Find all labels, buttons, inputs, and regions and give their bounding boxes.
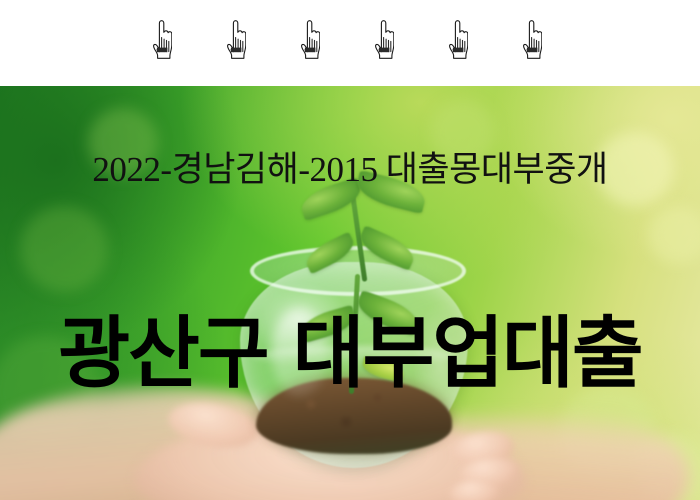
top-icon-bar (0, 0, 700, 86)
pointing-hand-icon-row (152, 20, 552, 64)
pointing-up-hand-icon-6 (522, 20, 542, 60)
pointing-up-hand-icon-1 (152, 20, 172, 60)
hero-banner: 2022-경남김해-2015 대출몽대부중개 광산구 대부업대출 (0, 86, 700, 500)
subtitle-text: 2022-경남김해-2015 대출몽대부중개 (0, 150, 700, 190)
poster-page: 2022-경남김해-2015 대출몽대부중개 광산구 대부업대출 (0, 0, 700, 500)
page-title: 광산구 대부업대출 (0, 308, 700, 400)
pointing-up-hand-icon-3 (300, 20, 320, 60)
pointing-up-hand-icon-5 (448, 20, 468, 60)
pointing-up-hand-icon-4 (374, 20, 394, 60)
seedling-in-glass-bowl-photo (0, 86, 700, 500)
pointing-up-hand-icon-2 (226, 20, 246, 60)
